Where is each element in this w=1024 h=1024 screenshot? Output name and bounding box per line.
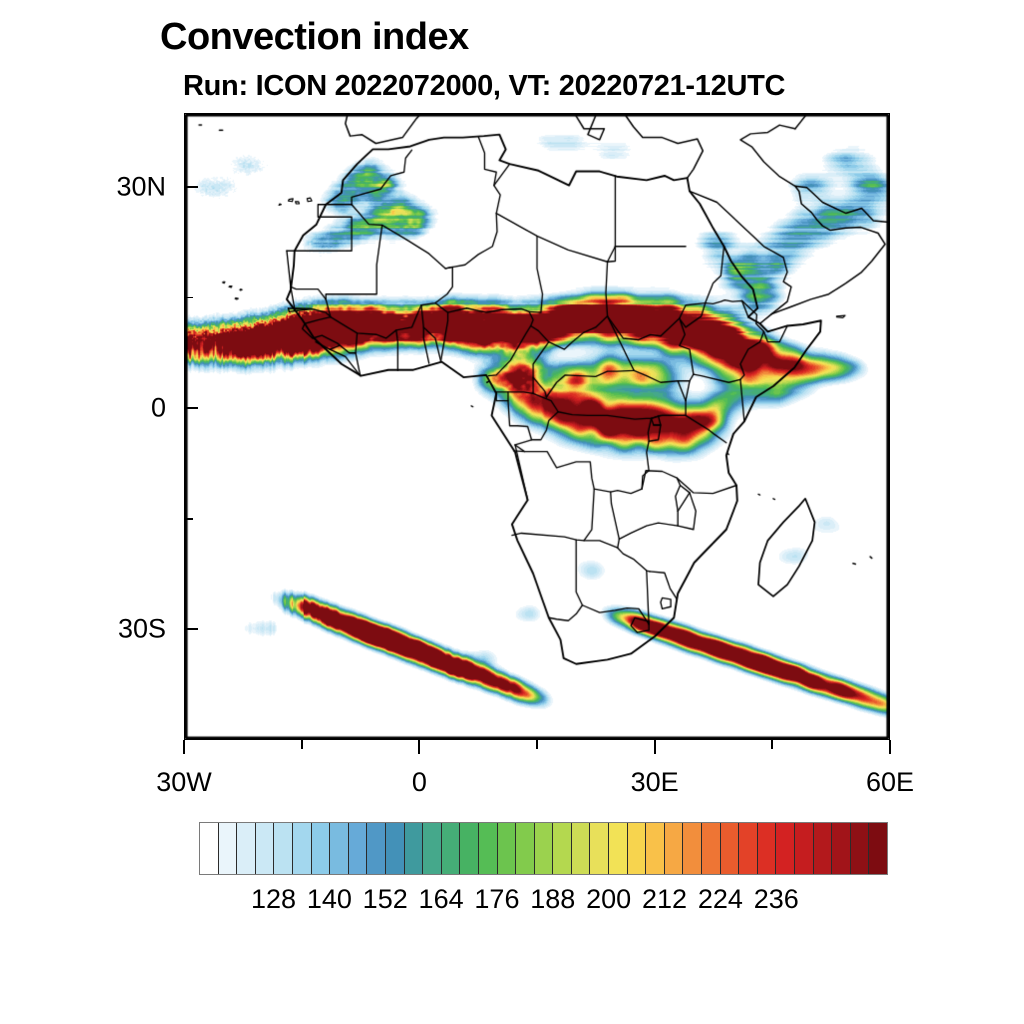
colorbar-cell-13: [442, 823, 461, 874]
x-tick-5: [771, 740, 773, 749]
x-tick-2: [418, 740, 420, 754]
colorbar-label-236: 236: [754, 884, 799, 915]
colorbar-cell-15: [479, 823, 498, 874]
x-axis-label-0: 0: [412, 767, 427, 798]
x-tick-3: [536, 740, 538, 749]
colorbar-tick-labels: 128140152164176188200212224236: [199, 884, 888, 920]
colorbar-cell-20: [572, 823, 591, 874]
colorbar-label-140: 140: [307, 884, 352, 915]
y-tick-3: [184, 518, 193, 520]
colorbar-cell-23: [628, 823, 647, 874]
colorbar-cell-33: [814, 823, 833, 874]
map-plot-area: [184, 113, 890, 740]
x-tick-0: [183, 740, 185, 754]
y-axis-label-30N: 30N: [54, 171, 166, 202]
colorbar-label-164: 164: [419, 884, 464, 915]
convection-field-canvas: [185, 114, 889, 739]
y-tick-0: [184, 186, 198, 188]
colorbar-cell-1: [219, 823, 238, 874]
colorbar-cell-17: [516, 823, 535, 874]
colorbar-cell-29: [739, 823, 758, 874]
y-tick-1: [184, 297, 193, 299]
x-tick-1: [301, 740, 303, 749]
x-axis-label-30W: 30W: [156, 767, 212, 798]
y-tick-4: [184, 628, 198, 630]
x-tick-4: [654, 740, 656, 754]
colorbar-cell-9: [367, 823, 386, 874]
colorbar-cell-25: [665, 823, 684, 874]
colorbar-cell-2: [237, 823, 256, 874]
page-title: Convection index: [160, 16, 469, 59]
colorbar-label-176: 176: [474, 884, 519, 915]
colorbar-cell-16: [498, 823, 517, 874]
colorbar-cell-28: [721, 823, 740, 874]
colorbar-cell-7: [330, 823, 349, 874]
colorbar-cell-34: [832, 823, 851, 874]
colorbar-cell-24: [646, 823, 665, 874]
colorbar-cell-8: [349, 823, 368, 874]
colorbar: [199, 822, 888, 875]
x-axis-label-60E: 60E: [866, 767, 914, 798]
colorbar-cell-26: [683, 823, 702, 874]
colorbar-cell-18: [535, 823, 554, 874]
colorbar-cell-31: [776, 823, 795, 874]
colorbar-label-212: 212: [642, 884, 687, 915]
colorbar-label-200: 200: [586, 884, 631, 915]
colorbar-cell-27: [702, 823, 721, 874]
y-axis-label-30S: 30S: [54, 614, 166, 645]
colorbar-cell-36: [869, 823, 887, 874]
colorbar-cell-32: [795, 823, 814, 874]
x-tick-6: [889, 740, 891, 754]
colorbar-cell-12: [423, 823, 442, 874]
colorbar-label-188: 188: [530, 884, 575, 915]
page-subtitle: Run: ICON 2022072000, VT: 20220721-12UTC: [183, 70, 785, 103]
colorbar-cell-3: [256, 823, 275, 874]
colorbar-cell-6: [312, 823, 331, 874]
colorbar-label-152: 152: [363, 884, 408, 915]
colorbar-cell-14: [460, 823, 479, 874]
colorbar-cell-21: [590, 823, 609, 874]
colorbar-label-224: 224: [698, 884, 743, 915]
colorbar-cell-35: [851, 823, 870, 874]
y-axis-label-0: 0: [54, 393, 166, 424]
colorbar-cell-19: [553, 823, 572, 874]
y-tick-2: [184, 407, 198, 409]
colorbar-cell-5: [293, 823, 312, 874]
colorbar-label-128: 128: [251, 884, 296, 915]
convection-index-map-page: Convection index Run: ICON 2022072000, V…: [0, 0, 1024, 1024]
colorbar-cell-22: [609, 823, 628, 874]
colorbar-cell-10: [386, 823, 405, 874]
colorbar-cell-4: [274, 823, 293, 874]
x-axis-label-30E: 30E: [631, 767, 679, 798]
colorbar-cell-30: [758, 823, 777, 874]
colorbar-cell-0: [200, 823, 219, 874]
colorbar-cell-11: [405, 823, 424, 874]
